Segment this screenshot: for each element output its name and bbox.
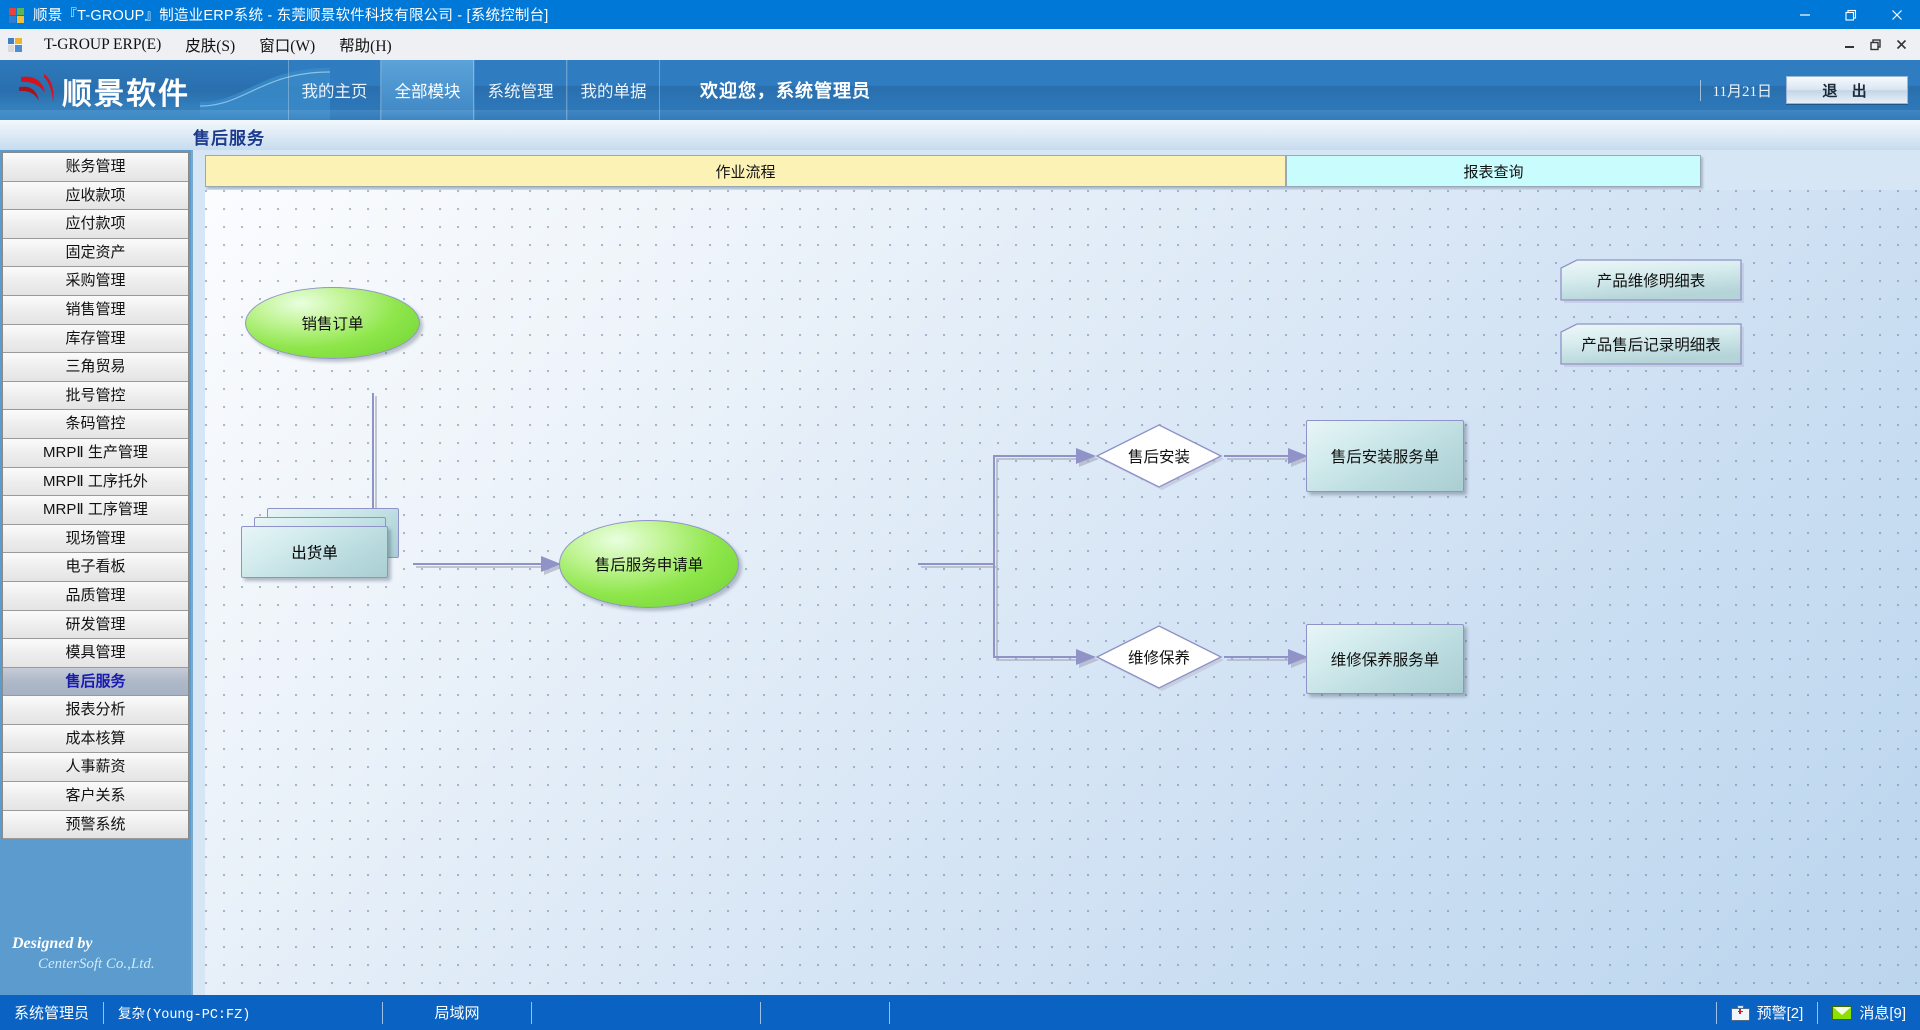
status-bar: 系统管理员 复杂(Young-PC:FZ) 局域网 预警[2] 消息[9] bbox=[0, 995, 1920, 1030]
envelope-icon bbox=[1832, 1006, 1852, 1020]
sidebar-item-cost-accounting[interactable]: 成本核算 bbox=[3, 725, 188, 754]
sidebar-item-shopfloor[interactable]: 现场管理 bbox=[3, 525, 188, 554]
report-service-record-label: 产品售后记录明细表 bbox=[1557, 320, 1745, 368]
window-controls bbox=[1782, 0, 1920, 29]
page-title: 售后服务 bbox=[193, 124, 265, 149]
sidebar-item-receivables[interactable]: 应收款项 bbox=[3, 182, 188, 211]
status-right-area: 预警[2] 消息[9] bbox=[1716, 1002, 1920, 1024]
nav-tab-all-modules[interactable]: 全部模块 bbox=[381, 60, 474, 120]
status-user: 系统管理员 bbox=[0, 1002, 104, 1024]
status-alert-label: 预警[2] bbox=[1757, 1002, 1804, 1023]
content-tab-bar: 作业流程 报表查询 bbox=[205, 155, 1701, 187]
sidebar-item-purchasing[interactable]: 采购管理 bbox=[3, 267, 188, 296]
sidebar-item-barcode-control[interactable]: 条码管控 bbox=[3, 410, 188, 439]
menu-item-window[interactable]: 窗口(W) bbox=[247, 31, 327, 59]
sidebar-item-alert-system[interactable]: 预警系统 bbox=[3, 811, 188, 840]
flow-node-install-service-doc[interactable]: 售后安装服务单 bbox=[1306, 420, 1464, 492]
nav-tab-system-management[interactable]: 系统管理 bbox=[474, 60, 567, 120]
erp-application-window: 顺景『T-GROUP』制造业ERP系统 - 东莞顺景软件科技有限公司 - [系统… bbox=[0, 0, 1920, 1030]
report-button-repair-detail[interactable]: 产品维修明细表 bbox=[1557, 256, 1745, 304]
app-squares-icon bbox=[8, 6, 26, 24]
sidebar-item-batch-control[interactable]: 批号管控 bbox=[3, 382, 188, 411]
close-button[interactable] bbox=[1874, 0, 1920, 29]
sidebar-item-report-analysis[interactable]: 报表分析 bbox=[3, 696, 188, 725]
medical-kit-icon bbox=[1731, 1005, 1750, 1021]
banner-date: 11月21日 bbox=[1700, 80, 1772, 101]
flow-decision-after-sales-install[interactable]: 售后安装 bbox=[1094, 420, 1224, 492]
welcome-message: 欢迎您，系统管理员 bbox=[700, 60, 871, 120]
workflow-connectors bbox=[205, 190, 1920, 995]
nav-tab-home[interactable]: 我的主页 bbox=[288, 60, 381, 120]
status-server: 复杂(Young-PC:FZ) bbox=[104, 1002, 383, 1024]
sidebar-item-mould[interactable]: 模具管理 bbox=[3, 639, 188, 668]
window-titlebar: 顺景『T-GROUP』制造业ERP系统 - 东莞顺景软件科技有限公司 - [系统… bbox=[0, 0, 1920, 29]
module-sidebar: 账务管理 应收款项 应付款项 固定资产 采购管理 销售管理 库存管理 三角贸易 … bbox=[0, 150, 193, 995]
sidebar-item-mrp-outsourcing[interactable]: MRPⅡ 工序托外 bbox=[3, 468, 188, 497]
tab-workflow[interactable]: 作业流程 bbox=[205, 155, 1286, 187]
workflow-canvas: 销售订单 出货单 售后服务申请单 售后安装 bbox=[205, 190, 1920, 995]
nav-tab-my-documents[interactable]: 我的单据 bbox=[567, 60, 660, 120]
flow-node-shipping-order[interactable]: 出货单 bbox=[241, 508, 416, 582]
mdi-minimize-button[interactable] bbox=[1836, 33, 1862, 57]
maximize-button[interactable] bbox=[1828, 0, 1874, 29]
designed-by-credit: Designed by CenterSoft Co.,Ltd. bbox=[2, 927, 189, 993]
banner-nav-tabs: 我的主页 全部模块 系统管理 我的单据 bbox=[288, 60, 660, 120]
sidebar-item-rnd[interactable]: 研发管理 bbox=[3, 611, 188, 640]
sidebar-item-sales[interactable]: 销售管理 bbox=[3, 296, 188, 325]
flow-node-service-request[interactable]: 售后服务申请单 bbox=[559, 520, 739, 608]
report-button-service-record[interactable]: 产品售后记录明细表 bbox=[1557, 320, 1745, 368]
sidebar-item-after-sales[interactable]: 售后服务 bbox=[3, 668, 188, 697]
sidebar-item-mrp-process[interactable]: MRPⅡ 工序管理 bbox=[3, 496, 188, 525]
minimize-button[interactable] bbox=[1782, 0, 1828, 29]
decision-install-label: 售后安装 bbox=[1094, 420, 1224, 492]
menu-item-erp[interactable]: T-GROUP ERP(E) bbox=[32, 33, 173, 57]
mdi-window-controls bbox=[1836, 29, 1914, 60]
exit-button[interactable]: 退 出 bbox=[1786, 76, 1908, 104]
designed-by-company: CenterSoft Co.,Ltd. bbox=[38, 956, 189, 973]
menu-item-skin[interactable]: 皮肤(S) bbox=[173, 31, 247, 59]
banner-right-area: 11月21日 退 出 bbox=[1700, 60, 1908, 120]
sidebar-item-hr-payroll[interactable]: 人事薪资 bbox=[3, 753, 188, 782]
window-squares-icon bbox=[8, 37, 24, 53]
status-slot-1 bbox=[532, 1002, 761, 1024]
flow-node-sales-order[interactable]: 销售订单 bbox=[245, 287, 420, 359]
status-network: 局域网 bbox=[383, 1002, 532, 1024]
sidebar-item-kanban[interactable]: 电子看板 bbox=[3, 553, 188, 582]
application-menubar: T-GROUP ERP(E) 皮肤(S) 窗口(W) 帮助(H) bbox=[0, 29, 1920, 61]
window-title: 顺景『T-GROUP』制造业ERP系统 - 东莞顺景软件科技有限公司 - [系统… bbox=[33, 4, 549, 25]
mdi-close-button[interactable] bbox=[1888, 33, 1914, 57]
brand-logo-area: 顺景软件 bbox=[0, 60, 288, 120]
sidebar-item-mrp-production[interactable]: MRPⅡ 生产管理 bbox=[3, 439, 188, 468]
brand-logo-text: 顺景软件 bbox=[62, 69, 190, 113]
app-banner: 顺景软件 我的主页 全部模块 系统管理 我的单据 欢迎您，系统管理员 11月21… bbox=[0, 60, 1920, 120]
designed-by-label: Designed by bbox=[12, 935, 189, 953]
sidebar-item-fixed-assets[interactable]: 固定资产 bbox=[3, 239, 188, 268]
shipping-order-stack-layer-front: 出货单 bbox=[241, 526, 388, 578]
status-message-label: 消息[9] bbox=[1859, 1002, 1906, 1023]
flow-node-maintenance-service-doc[interactable]: 维修保养服务单 bbox=[1306, 624, 1464, 694]
menu-item-help[interactable]: 帮助(H) bbox=[327, 31, 404, 59]
sidebar-item-accounting[interactable]: 账务管理 bbox=[3, 153, 188, 182]
decision-maintenance-label: 维修保养 bbox=[1094, 621, 1224, 693]
sidebar-item-crm[interactable]: 客户关系 bbox=[3, 782, 188, 811]
mdi-restore-button[interactable] bbox=[1862, 33, 1888, 57]
status-message-button[interactable]: 消息[9] bbox=[1817, 1002, 1920, 1024]
status-alert-button[interactable]: 预警[2] bbox=[1716, 1002, 1818, 1024]
sidebar-item-payables[interactable]: 应付款项 bbox=[3, 210, 188, 239]
tab-report-query[interactable]: 报表查询 bbox=[1286, 155, 1701, 187]
sidebar-item-quality[interactable]: 品质管理 bbox=[3, 582, 188, 611]
sidebar-item-inventory[interactable]: 库存管理 bbox=[3, 325, 188, 354]
module-menu-list: 账务管理 应收款项 应付款项 固定资产 采购管理 销售管理 库存管理 三角贸易 … bbox=[2, 152, 189, 839]
report-repair-detail-label: 产品维修明细表 bbox=[1557, 256, 1745, 304]
flow-decision-maintenance[interactable]: 维修保养 bbox=[1094, 621, 1224, 693]
status-slot-2 bbox=[761, 1002, 890, 1024]
swoosh-logo-icon bbox=[18, 71, 58, 109]
sidebar-item-triangular-trade[interactable]: 三角贸易 bbox=[3, 353, 188, 382]
page-title-strip: 售后服务 bbox=[0, 120, 1920, 150]
